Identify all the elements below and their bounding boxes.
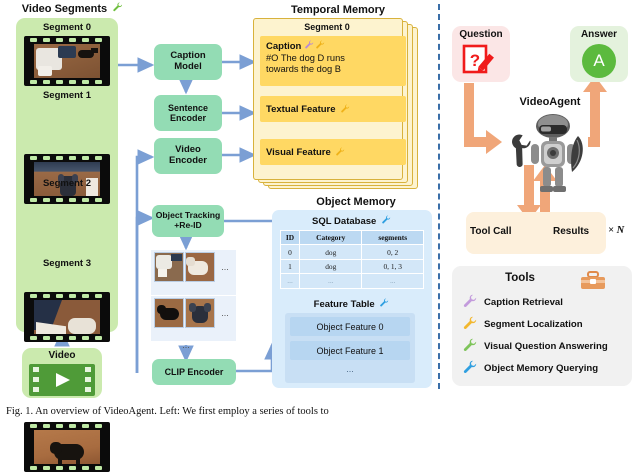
figure-caption: Fig. 1. An overview of VideoAgent. Left:… xyxy=(6,406,640,417)
tool-label: Visual Question Answering xyxy=(484,341,608,352)
temporal-card-title: Segment 0 xyxy=(253,22,401,32)
caption-model-box[interactable]: CaptionModel xyxy=(154,44,222,80)
object-crops-ellipsis-bottom: ... xyxy=(174,340,198,350)
caption-row[interactable]: Caption #O The dog D runs towards the do… xyxy=(260,36,406,86)
wrench-icon-yellow xyxy=(335,147,346,158)
feature-row-1[interactable]: Object Feature 1 xyxy=(290,341,410,360)
wrench-icon-blue xyxy=(381,215,392,226)
toolbox-icon xyxy=(580,271,606,291)
tool-item-object-memory-querying[interactable]: Object Memory Querying xyxy=(462,358,634,378)
object-crop-1 xyxy=(185,252,215,282)
wrench-icon-purple xyxy=(304,40,315,51)
object-tracking-box[interactable]: Object Tracking+Re-ID xyxy=(152,205,224,237)
col-segments: segments xyxy=(362,231,424,245)
wrench-icon-purple xyxy=(462,294,479,311)
feature-table-title: Feature Table xyxy=(272,298,432,310)
robot-wrench-icon xyxy=(511,133,534,168)
clip-encoder-box[interactable]: CLIP Encoder xyxy=(152,359,236,385)
robot-icon xyxy=(508,110,598,196)
sql-table-wrapper: ID Category segments 0 dog 0, 2 1 dog 0,… xyxy=(280,230,424,289)
segment-0-label: Segment 0 xyxy=(16,22,118,33)
wrench-icon-blue xyxy=(379,298,390,309)
tool-item-segment-localization[interactable]: Segment Localization xyxy=(462,314,628,334)
segment-3-label: Segment 3 xyxy=(16,258,118,269)
tool-label: Caption Retrieval xyxy=(484,297,563,308)
tool-item-caption-retrieval[interactable]: Caption Retrieval xyxy=(462,292,628,312)
segment-3-thumbnail xyxy=(24,422,110,472)
textual-feature-row[interactable]: Textual Feature xyxy=(260,96,406,122)
robot-feather-icon xyxy=(571,136,583,172)
results-label: Results xyxy=(553,226,589,237)
wrench-icon-green xyxy=(462,338,479,355)
tool-label: Segment Localization xyxy=(484,319,583,330)
repeat-count-label: × N xyxy=(608,225,624,236)
object-crops-ellipsis-row-0: ... xyxy=(216,262,234,272)
tool-call-label: Tool Call xyxy=(470,226,511,237)
segment-2-label: Segment 2 xyxy=(16,178,118,189)
table-row: 1 dog 0, 1, 3 xyxy=(281,259,424,273)
video-encoder-box[interactable]: VideoEncoder xyxy=(154,138,222,174)
wrench-icon-blue xyxy=(462,360,479,377)
segment-1-label: Segment 1 xyxy=(16,90,118,101)
temporal-memory-title: Temporal Memory xyxy=(258,4,418,16)
object-crop-3 xyxy=(185,298,215,328)
table-header-row: ID Category segments xyxy=(281,231,424,245)
tool-item-visual-question-answering[interactable]: Visual Question Answering xyxy=(462,336,634,356)
video-source-label: Video xyxy=(22,350,102,361)
video-segments-title: Video Segments xyxy=(14,2,132,15)
sql-database-title: SQL Database xyxy=(272,215,432,227)
table-row: ... ... ... xyxy=(281,274,424,288)
tools-title: Tools xyxy=(480,272,560,284)
sentence-encoder-box[interactable]: SentenceEncoder xyxy=(154,95,222,131)
answer-badge: A xyxy=(582,44,616,78)
object-crop-0 xyxy=(154,252,184,282)
answer-label: Answer xyxy=(566,29,632,40)
wrench-icon-yellow xyxy=(462,316,479,333)
wrench-icon-green xyxy=(112,2,124,14)
sql-table: ID Category segments 0 dog 0, 2 1 dog 0,… xyxy=(280,230,424,289)
agent-label: VideoAgent xyxy=(490,96,610,108)
object-memory-title: Object Memory xyxy=(276,196,436,208)
feature-row-0[interactable]: Object Feature 0 xyxy=(290,317,410,336)
table-row: 0 dog 0, 2 xyxy=(281,245,424,259)
caption-text-line2: towards the dog B xyxy=(266,64,345,76)
object-crops-ellipsis-row-1: ... xyxy=(216,308,234,318)
segment-2-thumbnail xyxy=(24,292,110,342)
visual-feature-row[interactable]: Visual Feature xyxy=(260,139,406,165)
wrench-icon-yellow xyxy=(340,104,351,115)
wrench-icon-yellow xyxy=(315,40,326,51)
object-crop-2 xyxy=(154,298,184,328)
tool-label: Object Memory Querying xyxy=(484,363,598,374)
film-play-icon xyxy=(29,364,95,396)
question-label-text: Question xyxy=(446,29,516,40)
segment-0-thumbnail xyxy=(24,36,110,86)
caption-text-line1: #O The dog D runs xyxy=(266,53,345,65)
question-note-icon: ? xyxy=(462,44,498,76)
feature-rows-ellipsis: ... xyxy=(290,364,410,374)
col-id: ID xyxy=(281,231,300,245)
col-category: Category xyxy=(300,231,362,245)
